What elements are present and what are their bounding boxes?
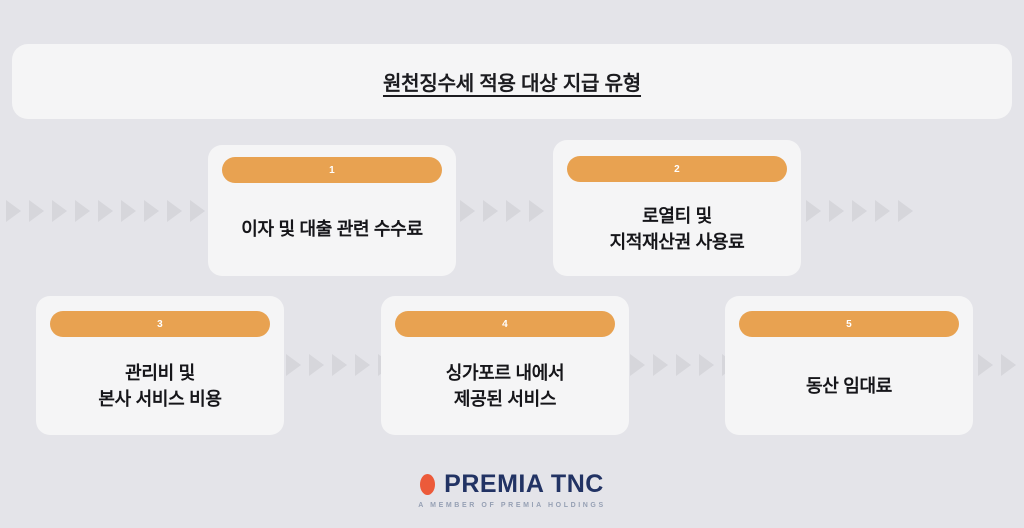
- right-triangle-icon: [875, 200, 890, 222]
- arrow-ribbon-top-right: [806, 198, 921, 224]
- right-triangle-icon: [676, 354, 691, 376]
- right-triangle-icon: [6, 200, 21, 222]
- arrow-ribbon-bottom-left: [286, 352, 392, 378]
- step-number-badge: 4: [395, 311, 615, 337]
- right-triangle-icon: [121, 200, 136, 222]
- step-label: 싱가포르 내에서 제공된 서비스: [436, 337, 575, 435]
- arrow-ribbon-bottom-right: [978, 352, 1024, 378]
- logo-wordmark: PREMIA TNC: [444, 470, 604, 499]
- step-card-3: 3 관리비 및 본사 서비스 비용: [36, 296, 284, 435]
- step-label: 로열티 및 지적재산권 사용료: [600, 182, 755, 276]
- logo-tagline: A MEMBER OF PREMIA HOLDINGS: [418, 502, 606, 509]
- right-triangle-icon: [355, 354, 370, 376]
- step-card-1: 1 이자 및 대출 관련 수수료: [208, 145, 456, 276]
- right-triangle-icon: [529, 200, 544, 222]
- step-number-badge: 3: [50, 311, 270, 337]
- right-triangle-icon: [506, 200, 521, 222]
- right-triangle-icon: [286, 354, 301, 376]
- step-card-4: 4 싱가포르 내에서 제공된 서비스: [381, 296, 629, 435]
- right-triangle-icon: [699, 354, 714, 376]
- header-bar: 원천징수세 적용 대상 지급 유형: [12, 44, 1012, 119]
- right-triangle-icon: [190, 200, 205, 222]
- logo-lockup: PREMIA TNC: [420, 470, 604, 499]
- step-label: 이자 및 대출 관련 수수료: [231, 183, 432, 276]
- right-triangle-icon: [29, 200, 44, 222]
- right-triangle-icon: [829, 200, 844, 222]
- premia-dot-icon: [420, 474, 435, 495]
- arrow-ribbon-top-middle: [460, 198, 552, 224]
- right-triangle-icon: [167, 200, 182, 222]
- right-triangle-icon: [75, 200, 90, 222]
- right-triangle-icon: [98, 200, 113, 222]
- right-triangle-icon: [806, 200, 821, 222]
- right-triangle-icon: [52, 200, 67, 222]
- right-triangle-icon: [630, 354, 645, 376]
- right-triangle-icon: [483, 200, 498, 222]
- right-triangle-icon: [653, 354, 668, 376]
- step-number-badge: 2: [567, 156, 787, 182]
- step-label: 동산 임대료: [796, 337, 902, 435]
- step-card-2: 2 로열티 및 지적재산권 사용료: [553, 140, 801, 276]
- step-label: 관리비 및 본사 서비스 비용: [88, 337, 231, 435]
- arrow-ribbon-top-left: [6, 198, 206, 224]
- right-triangle-icon: [332, 354, 347, 376]
- arrow-ribbon-bottom-middle: [630, 352, 736, 378]
- footer-logo: PREMIA TNC A MEMBER OF PREMIA HOLDINGS: [0, 470, 1024, 509]
- step-number-badge: 1: [222, 157, 442, 183]
- right-triangle-icon: [898, 200, 913, 222]
- right-triangle-icon: [144, 200, 159, 222]
- step-card-5: 5 동산 임대료: [725, 296, 973, 435]
- right-triangle-icon: [1001, 354, 1016, 376]
- right-triangle-icon: [978, 354, 993, 376]
- page-title: 원천징수세 적용 대상 지급 유형: [383, 67, 641, 96]
- step-number-badge: 5: [739, 311, 959, 337]
- right-triangle-icon: [309, 354, 324, 376]
- right-triangle-icon: [460, 200, 475, 222]
- right-triangle-icon: [852, 200, 867, 222]
